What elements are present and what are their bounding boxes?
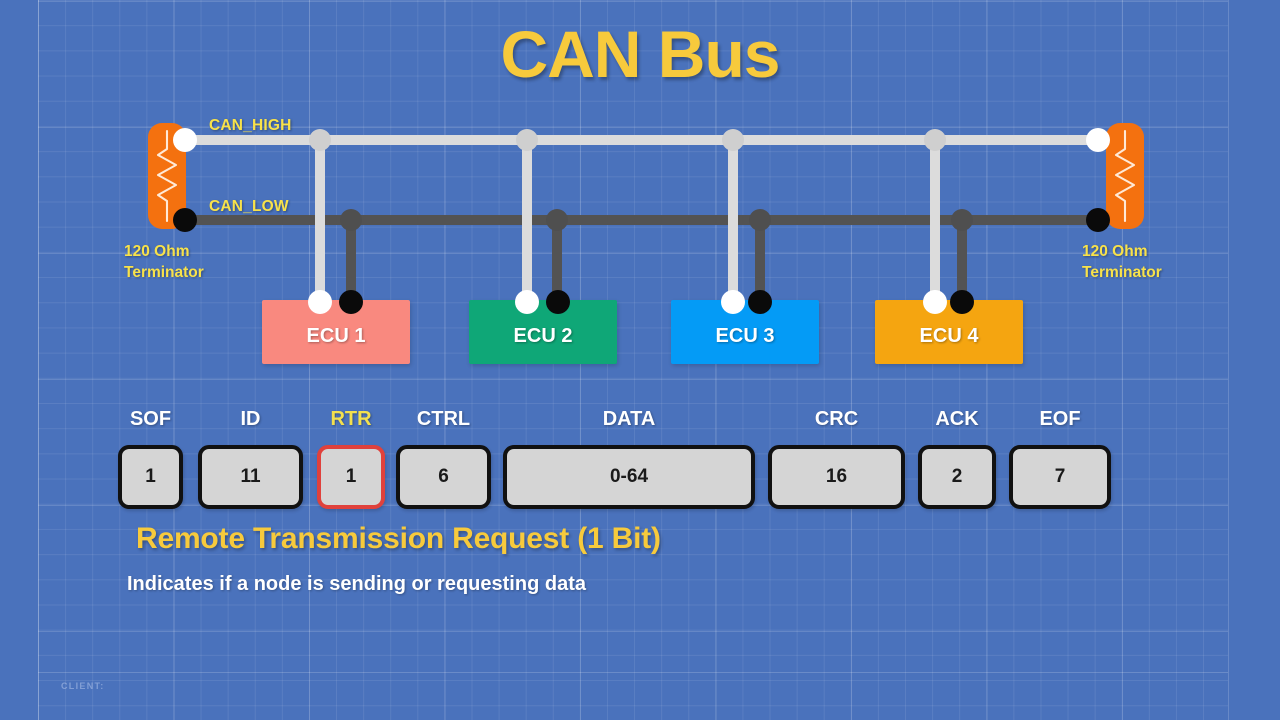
- junction-low-ecu1: [340, 209, 362, 231]
- drop-wire-high-ecu4: [930, 140, 940, 302]
- field-box-eof[interactable]: 7: [1009, 445, 1111, 509]
- field-box-data[interactable]: 0-64: [503, 445, 755, 509]
- drop-wire-high-ecu3: [728, 140, 738, 302]
- terminator-right: [1106, 123, 1144, 229]
- field-value-crc: 16: [826, 466, 847, 488]
- field-label-eof: EOF: [1009, 408, 1111, 431]
- ecu1-high-terminal-dot: [308, 290, 332, 314]
- slide-canvas: CAN Bus CAN_HIGH CAN_LOW: [0, 0, 1280, 720]
- ecu-node-2-label: ECU 2: [514, 325, 573, 348]
- page-title: CAN Bus: [0, 16, 1280, 92]
- field-value-ctrl: 6: [438, 466, 449, 488]
- junction-low-ecu3: [749, 209, 771, 231]
- field-value-sof: 1: [145, 466, 156, 488]
- ecu-node-3[interactable]: ECU 3: [671, 300, 819, 364]
- drop-wire-high-ecu2: [522, 140, 532, 302]
- field-label-rtr: RTR: [317, 408, 385, 431]
- junction-low-ecu4: [951, 209, 973, 231]
- footer-divider: [38, 672, 1228, 673]
- drop-wire-high-ecu1: [315, 140, 325, 302]
- field-box-ack[interactable]: 2: [918, 445, 996, 509]
- field-label-data: DATA: [503, 408, 755, 431]
- junction-high-ecu2: [516, 129, 538, 151]
- client-watermark: CLIENT:: [61, 681, 105, 691]
- field-box-ctrl[interactable]: 6: [396, 445, 491, 509]
- ecu-node-4[interactable]: ECU 4: [875, 300, 1023, 364]
- ecu3-high-terminal-dot: [721, 290, 745, 314]
- field-value-id: 11: [240, 466, 260, 488]
- ecu3-low-terminal-dot: [748, 290, 772, 314]
- junction-high-ecu3: [722, 129, 744, 151]
- terminator-left-high-dot: [173, 128, 197, 152]
- terminator-left-caption: 120 Ohm Terminator: [124, 241, 204, 283]
- field-value-eof: 7: [1055, 466, 1066, 488]
- field-box-rtr[interactable]: 1: [317, 445, 385, 509]
- resistor-icon: [1106, 123, 1144, 229]
- grid-left-edge: [38, 0, 39, 720]
- grid-right-edge: [1228, 0, 1229, 720]
- ecu2-low-terminal-dot: [546, 290, 570, 314]
- blueprint-grid-background: [38, 0, 1228, 720]
- terminator-left-low-dot: [173, 208, 197, 232]
- field-label-ctrl: CTRL: [396, 408, 491, 431]
- field-label-crc: CRC: [768, 408, 905, 431]
- field-value-rtr: 1: [346, 466, 357, 488]
- ecu-node-3-label: ECU 3: [716, 325, 775, 348]
- terminator-right-high-dot: [1086, 128, 1110, 152]
- can-high-label: CAN_HIGH: [209, 117, 292, 135]
- ecu1-low-terminal-dot: [339, 290, 363, 314]
- ecu-node-4-label: ECU 4: [920, 325, 979, 348]
- ecu4-low-terminal-dot: [950, 290, 974, 314]
- junction-high-ecu1: [309, 129, 331, 151]
- junction-low-ecu2: [546, 209, 568, 231]
- ecu-node-1[interactable]: ECU 1: [262, 300, 410, 364]
- field-box-sof[interactable]: 1: [118, 445, 183, 509]
- ecu-node-1-label: ECU 1: [307, 325, 366, 348]
- caption-subtext: Indicates if a node is sending or reques…: [127, 573, 586, 596]
- junction-high-ecu4: [924, 129, 946, 151]
- terminator-right-caption: 120 Ohm Terminator: [1082, 241, 1162, 283]
- ecu-node-2[interactable]: ECU 2: [469, 300, 617, 364]
- field-label-id: ID: [198, 408, 303, 431]
- terminator-right-low-dot: [1086, 208, 1110, 232]
- field-label-sof: SOF: [118, 408, 183, 431]
- ecu2-high-terminal-dot: [515, 290, 539, 314]
- field-box-id[interactable]: 11: [198, 445, 303, 509]
- can-low-label: CAN_LOW: [209, 198, 289, 216]
- field-label-ack: ACK: [918, 408, 996, 431]
- ecu4-high-terminal-dot: [923, 290, 947, 314]
- caption-headline: Remote Transmission Request (1 Bit): [136, 522, 661, 556]
- field-value-ack: 2: [952, 466, 963, 488]
- field-value-data: 0-64: [610, 466, 648, 488]
- field-box-crc[interactable]: 16: [768, 445, 905, 509]
